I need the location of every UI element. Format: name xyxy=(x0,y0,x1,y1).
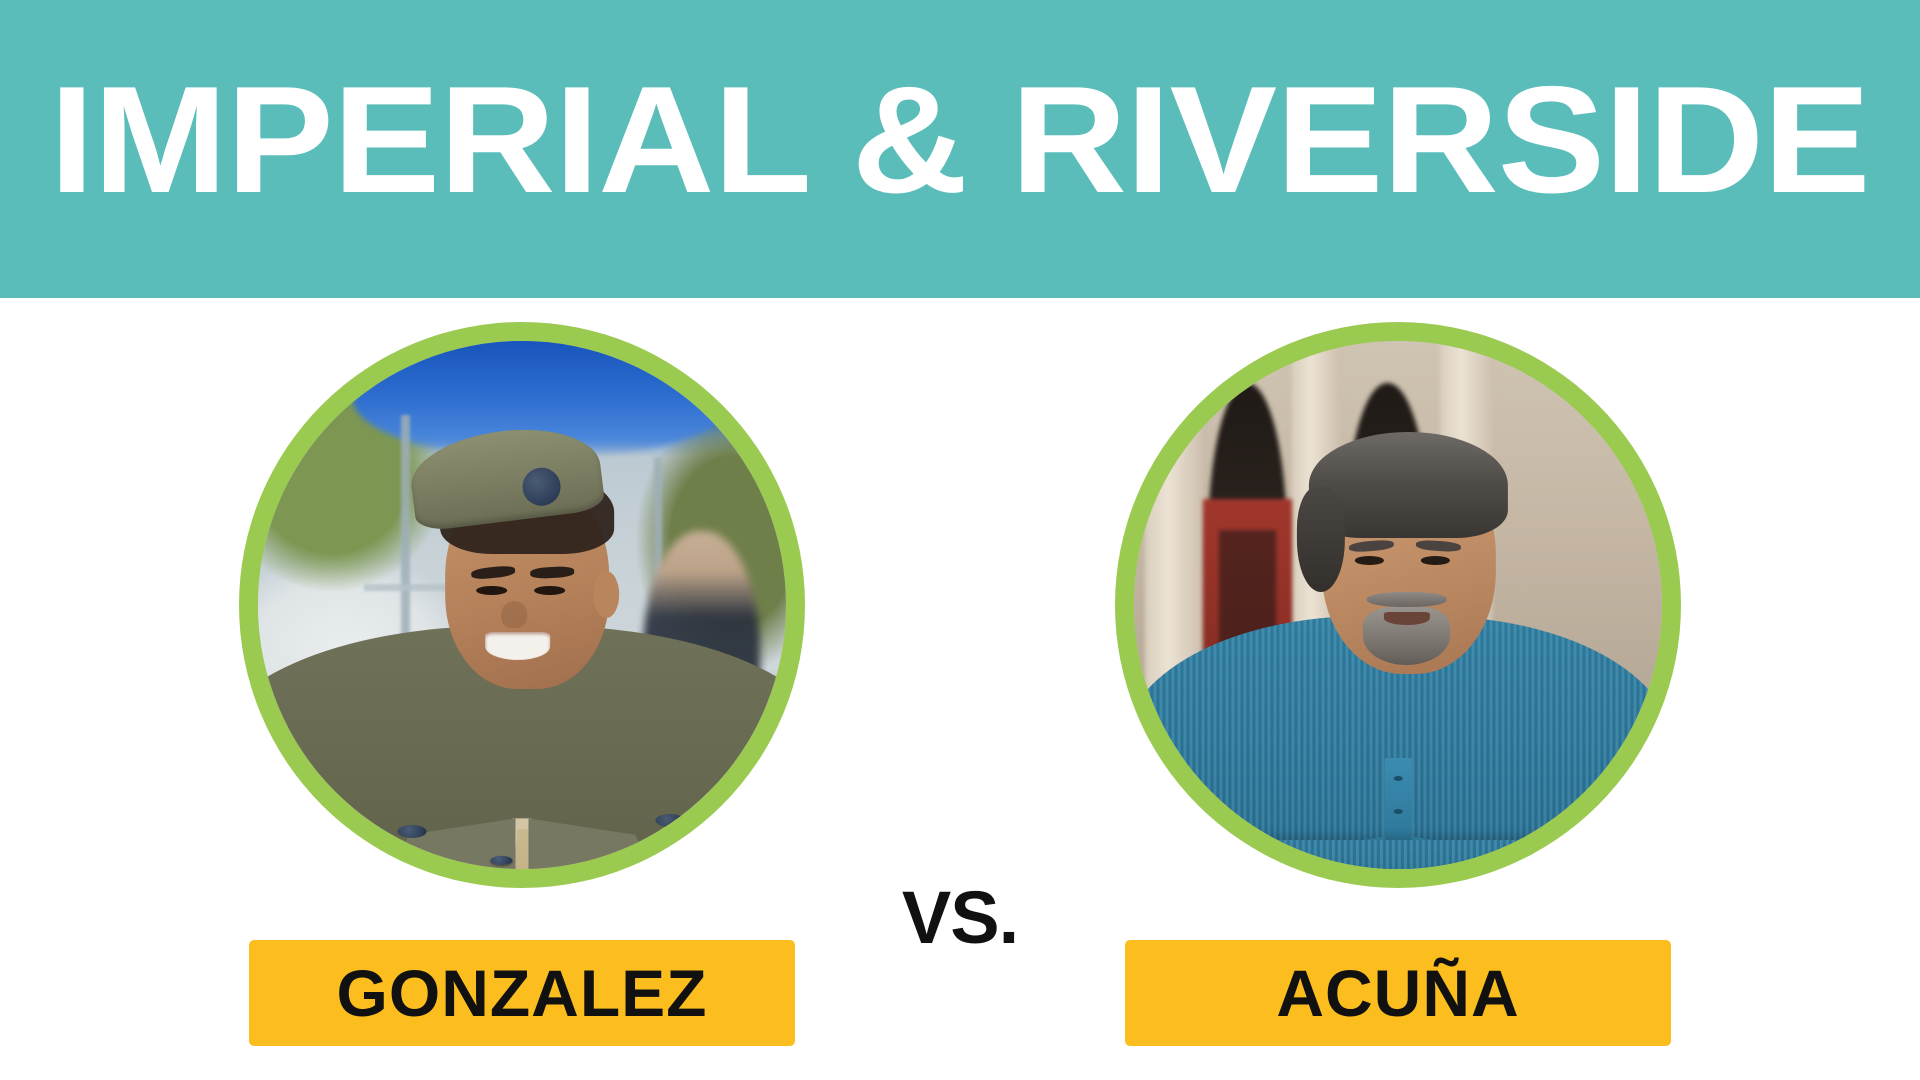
civic-portrait-scene xyxy=(1134,341,1662,869)
eye-shape xyxy=(477,586,508,596)
uniform-button-icon xyxy=(491,856,512,865)
ear-shape xyxy=(593,571,619,617)
eye-shape xyxy=(1421,556,1451,565)
candidate-card-left[interactable]: GONZALEZ xyxy=(212,298,832,1080)
candidate-photo-right xyxy=(1134,341,1662,869)
eyebrow-shape xyxy=(1415,539,1461,552)
eye-shape xyxy=(1355,556,1385,565)
portrait-ring-left xyxy=(239,322,805,888)
ribbon-rack-icon xyxy=(653,840,784,857)
smile-shape xyxy=(485,632,550,659)
nameplate-right[interactable]: ACUÑA xyxy=(1125,940,1671,1046)
nose-shape xyxy=(501,601,527,628)
versus-separator: VS. xyxy=(902,881,1018,955)
collar-insignia-icon xyxy=(397,825,426,838)
candidate-photo-left xyxy=(258,341,786,869)
lapel-shape xyxy=(528,818,665,869)
matchup-graphic: IMPERIAL & RIVERSIDE xyxy=(0,0,1920,1080)
candidate-name-right: ACUÑA xyxy=(1276,960,1519,1026)
page-title: IMPERIAL & RIVERSIDE xyxy=(50,64,1870,216)
marksmanship-badge-icon xyxy=(678,865,715,869)
eyebrow-shape xyxy=(471,565,516,580)
marine-portrait-scene xyxy=(258,341,786,869)
portrait-ring-right xyxy=(1115,322,1681,888)
eyebrow-shape xyxy=(530,566,575,579)
nameplate-left[interactable]: GONZALEZ xyxy=(249,940,795,1046)
collar-insignia-icon xyxy=(655,814,684,827)
header-banner: IMPERIAL & RIVERSIDE xyxy=(0,0,1920,298)
crossed-arms-shape xyxy=(1145,840,1650,869)
hair-shape xyxy=(1309,432,1508,538)
eyebrow-shape xyxy=(1349,539,1395,553)
pole-shape xyxy=(401,415,410,658)
face-shape xyxy=(1321,452,1495,674)
mustache-shape xyxy=(1367,592,1447,608)
mouth-shape xyxy=(1384,612,1429,625)
candidate-card-right[interactable]: ACUÑA xyxy=(1088,298,1708,1080)
matchup-row: GONZALEZ xyxy=(0,298,1920,1080)
eye-shape xyxy=(534,586,565,596)
candidate-name-left: GONZALEZ xyxy=(337,960,708,1026)
eagle-globe-anchor-icon xyxy=(521,466,563,508)
service-badge-icon xyxy=(740,865,777,869)
